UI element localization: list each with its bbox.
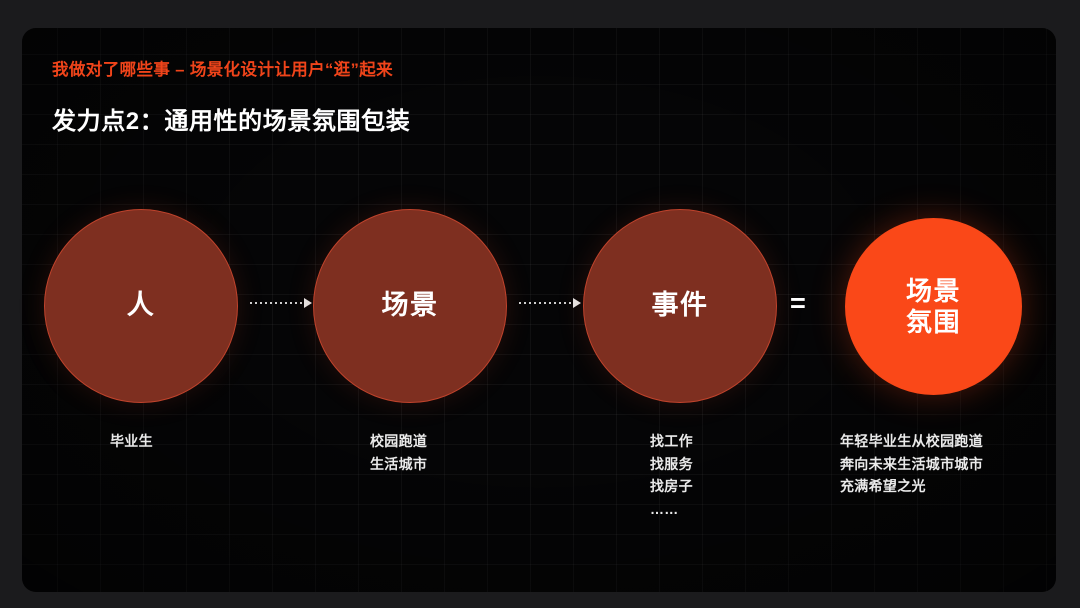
arrow-dotted-line [519,302,572,304]
slide-canvas: 我做对了哪些事 – 场景化设计让用户“逛”起来 发力点2：通用性的场景氛围包装 … [0,0,1080,608]
node-scene-atmosphere-label: 场景 氛围 [906,276,961,337]
caption-scene-atmosphere: 年轻毕业生从校园跑道 奔向未来生活城市城市 充满希望之光 [840,430,983,498]
caption-event: 找工作 找服务 找房子 …… [650,430,693,521]
caption-scene: 校园跑道 生活城市 [370,430,427,475]
node-event: 事件 [583,209,777,403]
arrow-scene-to-event [519,298,581,308]
node-person: 人 [44,209,238,403]
node-person-label: 人 [127,290,156,322]
arrow-person-to-scene [250,298,312,308]
arrow-head-icon [304,298,312,308]
arrow-dotted-line [250,302,303,304]
slide-kicker: 我做对了哪些事 – 场景化设计让用户“逛”起来 [52,56,393,80]
page-title: 发力点2：通用性的场景氛围包装 [52,101,410,136]
node-event-label: 事件 [652,290,709,322]
node-scene: 场景 [313,209,507,403]
equals-operator: = [790,290,806,317]
caption-person: 毕业生 [110,430,153,453]
node-scene-label: 场景 [382,290,439,322]
arrow-head-icon [573,298,581,308]
node-scene-atmosphere: 场景 氛围 [845,218,1022,395]
